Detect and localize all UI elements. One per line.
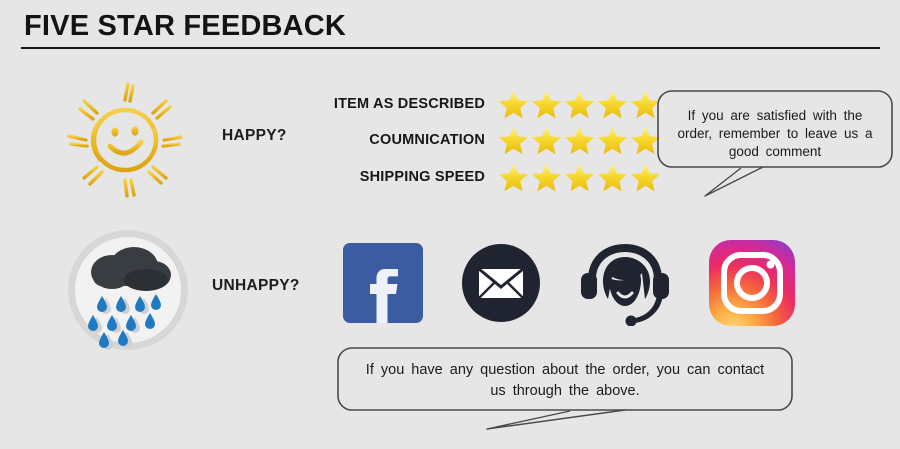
mood-label-unhappy: UNHAPPY? [212, 277, 300, 295]
mood-label-happy: HAPPY? [222, 127, 287, 145]
contact-channel-list [343, 240, 795, 326]
customer-support-headset-icon[interactable] [579, 240, 671, 326]
speech-bubble-rating: If you are satisfied with the order, rem… [655, 88, 895, 200]
page-title: FIVE STAR FEEDBACK [24, 10, 346, 43]
rating-label: ITEM AS DESCRIBED [300, 96, 487, 112]
rating-label: SHIPPING SPEED [300, 169, 487, 185]
star-icon[interactable] [497, 161, 530, 194]
speech-bubble-rating-text: If you are satisfied with the order, rem… [669, 107, 881, 161]
speech-bubble-contact-text: If you have any question about the order… [361, 360, 769, 402]
instagram-icon[interactable] [709, 240, 795, 326]
email-icon[interactable] [461, 243, 541, 323]
star-group[interactable] [497, 161, 662, 194]
rating-row: SHIPPING SPEED [300, 159, 662, 195]
star-icon[interactable] [563, 124, 596, 157]
star-icon[interactable] [596, 88, 629, 121]
star-group[interactable] [497, 124, 662, 157]
rating-row: COUMNICATION [300, 122, 662, 158]
star-icon[interactable] [563, 161, 596, 194]
rain-cloud-icon [66, 228, 190, 352]
star-icon[interactable] [530, 161, 563, 194]
rating-row: ITEM AS DESCRIBED [300, 86, 662, 122]
title-divider [21, 47, 880, 49]
star-icon[interactable] [563, 88, 596, 121]
rating-label: COUMNICATION [300, 132, 487, 148]
feedback-banner: FIVE STAR FEEDBACK [0, 0, 900, 449]
star-icon[interactable] [530, 88, 563, 121]
star-icon[interactable] [530, 124, 563, 157]
star-icon[interactable] [596, 161, 629, 194]
star-icon[interactable] [596, 124, 629, 157]
facebook-icon[interactable] [343, 243, 423, 323]
star-icon[interactable] [497, 124, 530, 157]
star-group[interactable] [497, 88, 662, 121]
star-icon[interactable] [497, 88, 530, 121]
speech-bubble-contact: If you have any question about the order… [335, 345, 795, 431]
sun-smiley-icon [60, 78, 190, 203]
